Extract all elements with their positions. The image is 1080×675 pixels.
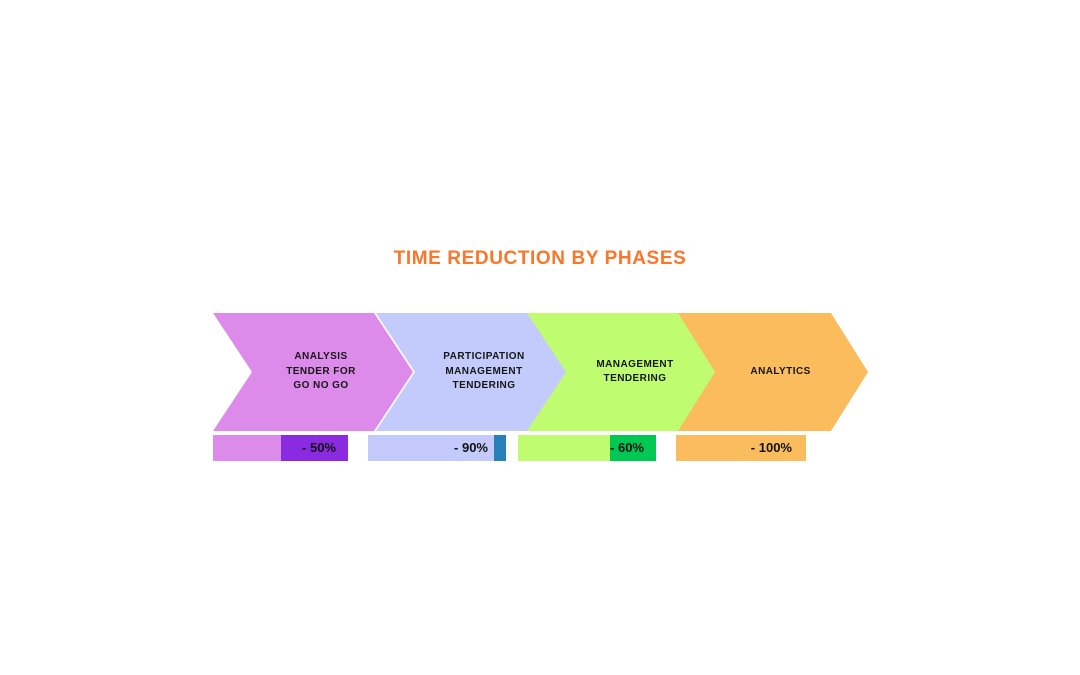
phase-chevron-label: PARTICIPATION MANAGEMENT TENDERING xyxy=(427,350,524,394)
reduction-bar-row: - 50% - 90% - 60% - 100% xyxy=(213,435,868,461)
bar-value-label: - 50% xyxy=(302,435,336,461)
phase-chevron-label: ANALYTICS xyxy=(735,365,811,380)
bar-fill xyxy=(494,435,506,461)
phase-chevron-analysis[interactable]: ANALYSIS TENDER FOR GO NO GO xyxy=(213,313,413,431)
bar-value-label: - 90% xyxy=(454,435,488,461)
bar-value-label: - 60% xyxy=(610,435,644,461)
phase-chevron-row: ANALYSIS TENDER FOR GO NO GO PARTICIPATI… xyxy=(213,313,868,431)
reduction-bar-analytics[interactable]: - 100% xyxy=(676,435,806,461)
bar-value-label: - 100% xyxy=(751,435,792,461)
reduction-bar-analysis[interactable]: - 50% xyxy=(213,435,348,461)
phase-chevron-label: ANALYSIS TENDER FOR GO NO GO xyxy=(270,350,356,394)
infographic-root: TIME REDUCTION BY PHASES ANALYSIS TENDER… xyxy=(0,0,1080,675)
reduction-bar-participation[interactable]: - 90% xyxy=(368,435,506,461)
page-title: TIME REDUCTION BY PHASES xyxy=(0,248,1080,270)
phase-chevron-label: MANAGEMENT TENDERING xyxy=(580,358,673,387)
reduction-bar-management[interactable]: - 60% xyxy=(518,435,656,461)
